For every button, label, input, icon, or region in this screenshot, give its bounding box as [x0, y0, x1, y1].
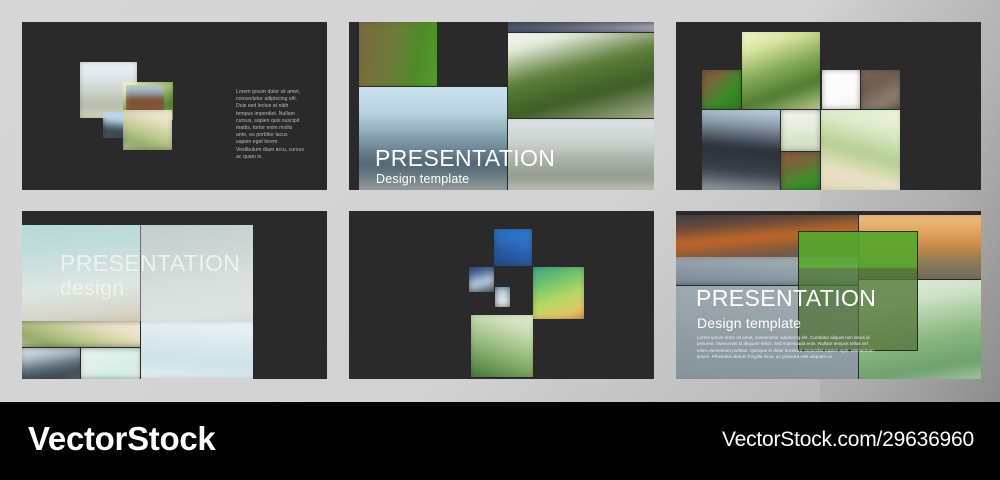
slide2-photo-olive: [359, 22, 437, 86]
footer-bar: VectorStock VectorStock.com/29636960: [0, 402, 1000, 480]
slide5-photo-bluewindow: [469, 267, 494, 292]
slide-5[interactable]: [349, 211, 654, 379]
slide4-photo-promenade: [22, 321, 140, 347]
slide-4[interactable]: PRESENTATION design: [22, 211, 327, 379]
slide-2[interactable]: PRESENTATION Design template: [349, 22, 654, 190]
slide4-photo-whiteblue: [141, 321, 253, 379]
poster-stage: Lorem ipsum dolor sit amet, consectetur …: [0, 0, 1000, 480]
slide4-title: PRESENTATION: [60, 250, 240, 277]
stock-url: VectorStock.com/29636960: [722, 428, 974, 452]
slide2-title: PRESENTATION: [375, 145, 555, 172]
slide3-photo-greenbuilding: [742, 32, 820, 109]
slide3-photo-redgreen: [781, 152, 820, 190]
slide-3[interactable]: [676, 22, 981, 190]
slide3-photo-white: [822, 70, 860, 109]
slide3-photo-palegreen: [781, 110, 820, 151]
slide6-body-text: Lorem ipsum dolor sit amet, consectetur …: [697, 335, 875, 361]
slide6-subtitle: Design template: [697, 315, 801, 331]
slide1-body-text: Lorem ipsum dolor sit amet, consectetur …: [236, 89, 304, 161]
slide6-title: PRESENTATION: [696, 285, 876, 312]
slide-6[interactable]: PRESENTATION Design template Lorem ipsum…: [676, 211, 981, 379]
slide5-photo-riverroad: [471, 315, 533, 377]
slide2-photo-parkbuilding: [508, 33, 654, 118]
slide5-photo-smallsky: [495, 287, 510, 307]
slide2-subtitle: Design template: [376, 172, 469, 186]
slide3-photo-darkglass: [702, 110, 780, 190]
slide4-photo-mint: [81, 348, 140, 379]
slide-1[interactable]: Lorem ipsum dolor sit amet, consectetur …: [22, 22, 327, 190]
slide3-photo-brown: [861, 70, 900, 109]
slide3-photo-boulevard: [821, 110, 900, 190]
brand-wordmark: VectorStock: [28, 420, 215, 458]
slide3-photo-greenleaf: [702, 70, 741, 109]
slide4-subtitle: design: [60, 277, 124, 301]
slide5-photo-bluetower: [494, 229, 532, 266]
slide4-photo-modern: [22, 348, 80, 379]
slide2-photo-rooftop: [508, 22, 654, 32]
slide5-photo-teal: [533, 267, 584, 319]
slide1-photo-lane: [123, 110, 172, 150]
